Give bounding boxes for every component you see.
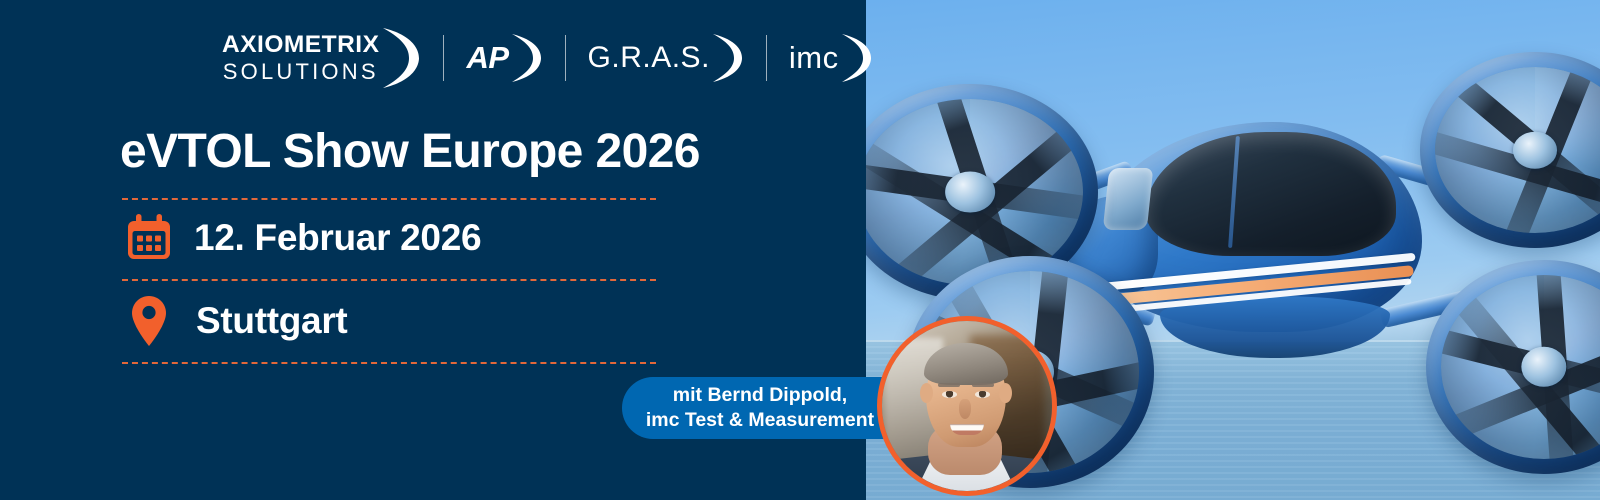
logo-separator xyxy=(565,35,566,81)
event-date-row: 12. Februar 2026 xyxy=(122,212,481,264)
logo-imc[interactable]: imc xyxy=(789,27,873,89)
divider-line xyxy=(122,279,656,281)
divider-line xyxy=(122,198,656,200)
speaker-name: mit Bernd Dippold, xyxy=(646,383,874,408)
event-title: eVTOL Show Europe 2026 xyxy=(120,124,700,179)
logo-separator xyxy=(443,35,444,81)
logo-imc-text: imc xyxy=(789,40,839,76)
swoosh-icon xyxy=(839,32,873,84)
calendar-icon xyxy=(122,212,176,264)
portrait-nose xyxy=(959,399,971,419)
logo-gras-text: G.R.A.S. xyxy=(588,41,710,75)
portrait-ear xyxy=(999,383,1012,403)
event-date-label: 12. Februar 2026 xyxy=(194,217,481,259)
divider-line xyxy=(122,362,656,364)
speaker-portrait xyxy=(877,316,1057,496)
logo-axiometrix-line1: AXIOMETRIX xyxy=(222,33,379,58)
swoosh-icon xyxy=(379,26,421,90)
portrait-eyebrow xyxy=(972,383,994,387)
event-banner: AXIOMETRIX SOLUTIONS AP xyxy=(0,0,1600,500)
portrait-ear xyxy=(920,383,933,403)
brand-logo-bar: AXIOMETRIX SOLUTIONS AP xyxy=(222,27,873,89)
event-location-label: Stuttgart xyxy=(196,300,347,342)
portrait-eye xyxy=(975,391,990,398)
map-pin-icon xyxy=(122,294,176,348)
logo-ap-text: AP xyxy=(466,40,508,76)
event-location-row: Stuttgart xyxy=(122,294,347,348)
speaker-company: imc Test & Measurement xyxy=(646,408,874,433)
logo-separator xyxy=(766,35,767,81)
portrait-eye xyxy=(942,391,957,398)
portrait-eyebrow xyxy=(938,383,960,387)
swoosh-icon xyxy=(509,32,543,84)
logo-axiometrix-line2: SOLUTIONS xyxy=(223,61,379,83)
logo-gras[interactable]: G.R.A.S. xyxy=(588,27,744,89)
swoosh-icon xyxy=(710,32,744,84)
logo-axiometrix[interactable]: AXIOMETRIX SOLUTIONS xyxy=(222,27,421,89)
logo-ap[interactable]: AP xyxy=(466,27,542,89)
